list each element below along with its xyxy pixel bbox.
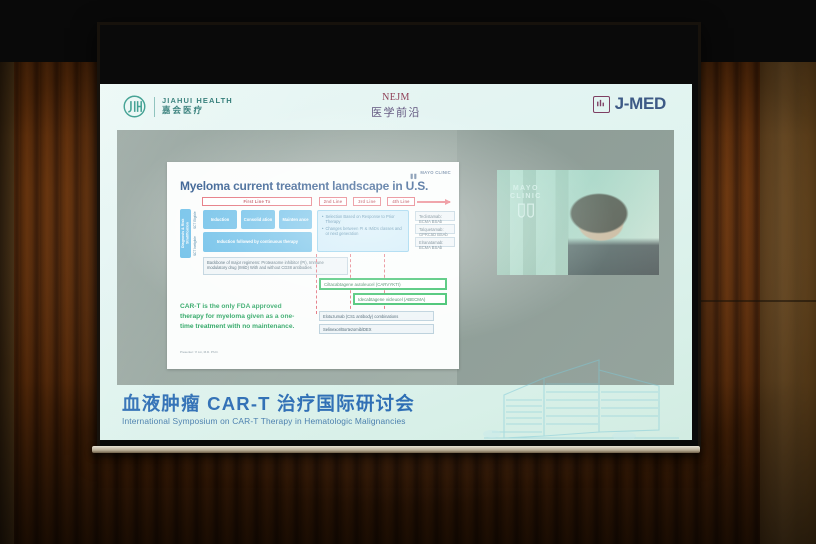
bispecific-teclistamab: Teclistamab: BCMA BSAb xyxy=(415,211,455,221)
therapy-selinexor: Selinexor/Bortezomib/DEX xyxy=(319,324,434,334)
jmed-logo: J-MED xyxy=(593,94,666,114)
header-3rd-line: 3rd Line xyxy=(353,197,381,206)
presenter-citation: Presenter: Yi Lin, M.D. Ph.D. xyxy=(180,350,218,354)
label-sct-eligible: SCT Eligible xyxy=(193,209,200,231)
continuous-therapy-box: Induction followed by continuous therapy xyxy=(203,232,312,252)
label-diagnosis-risk: Diagnosis & Risk Stratification xyxy=(180,209,191,258)
phase-consolidation: Consolid ation xyxy=(241,210,275,229)
ppt-title: Myeloma current treatment landscape in U… xyxy=(180,179,428,193)
bullet-selection: Selection Based on Response to Prior The… xyxy=(325,214,404,224)
mayo-shield-icon xyxy=(409,168,418,176)
header-2nd-line: 2nd Line xyxy=(319,197,347,206)
nejm-logo: NEJM 医学前沿 xyxy=(371,92,421,120)
bullet-changes: Changes between PI & IMiDs classes and o… xyxy=(325,226,404,236)
cart-ide-cel: Idecabtagene vicleucel (ABECMA) xyxy=(353,293,447,305)
slide-header: JIAHUI HEALTH 嘉会医疗 NEJM 医学前沿 J-MED xyxy=(100,84,692,128)
backbone-regimens-box: Backbone of major regimens: Proteasome i… xyxy=(203,257,348,275)
speaker-video-feed[interactable]: MAYO CLINIC xyxy=(497,170,659,275)
banner-title-en: International Symposium on CAR-T Therapy… xyxy=(122,416,406,426)
banner-title-cn: 血液肿瘤 CAR-T 治疗国际研讨会 xyxy=(122,390,415,416)
phase-maintenance: Mainten ance xyxy=(279,210,312,229)
header-4th-line: 4th Line xyxy=(387,197,415,206)
nejm-mark-label: NEJM xyxy=(371,92,421,103)
timeline-arrow-icon xyxy=(417,201,450,203)
bispecific-elranatamab: Elranatamab: BCMA BSAb xyxy=(415,237,455,247)
header-first-line: First Line Tx xyxy=(202,197,312,206)
therapy-elotuzumab: Elotuzumab (CS1 antibody) combinations xyxy=(319,311,434,321)
cart-highlight-note: CAR-T is the only FDA approved therapy f… xyxy=(180,302,300,332)
logo-divider xyxy=(154,97,155,117)
bispecific-talquetamab: Talquetamab: GPRC5D BSAb xyxy=(415,224,455,234)
conference-banner: 血液肿瘤 CAR-T 治疗国际研讨会 International Symposi… xyxy=(100,384,692,440)
hospital-building-illustration xyxy=(474,340,684,440)
screen-ledge xyxy=(92,446,700,453)
nejm-cn-label: 医学前沿 xyxy=(371,104,421,120)
jiahui-health-logo: JIAHUI HEALTH 嘉会医疗 xyxy=(122,94,233,119)
jmed-mark-icon xyxy=(593,96,610,113)
phase-induction: Induction xyxy=(203,210,237,229)
mayo-clinic-logo: MAYO CLINIC xyxy=(409,168,451,176)
jiahui-mark-icon xyxy=(122,94,147,119)
embedded-slide: MAYO CLINIC Myeloma current treatment la… xyxy=(167,162,459,369)
mayo-label: MAYO CLINIC xyxy=(420,170,451,175)
video-color-wash xyxy=(497,170,659,275)
divider-2nd-line xyxy=(316,254,318,314)
label-sct-ineligible: SCT Ineligible xyxy=(193,234,200,258)
conference-room-photo: JIAHUI HEALTH 嘉会医疗 NEJM 医学前沿 J-MED xyxy=(0,0,816,544)
presentation-slide: JIAHUI HEALTH 嘉会医疗 NEJM 医学前沿 J-MED xyxy=(100,84,692,440)
jmed-label: J-MED xyxy=(615,94,666,114)
second-line-strategy-box: • Selection Based on Response to Prior T… xyxy=(317,210,409,252)
jiahui-cn-label: 嘉会医疗 xyxy=(162,106,233,116)
cart-cilta-cel: Ciltacabtagene autoleucel (CARVYKTI) xyxy=(319,278,447,290)
